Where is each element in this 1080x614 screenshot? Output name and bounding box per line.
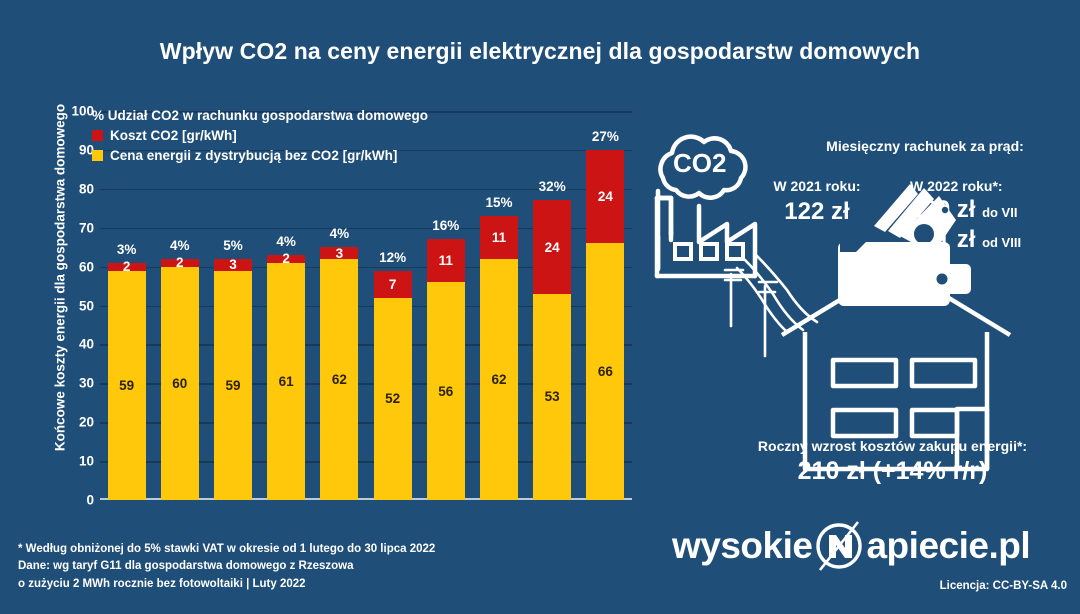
- bar-segment-co2-cost[interactable]: 7: [374, 271, 412, 298]
- bar-value-energy-price: 60: [172, 376, 187, 391]
- y-axis-ticks: 0102030405060708090100: [52, 111, 94, 500]
- bar-segment-energy-price[interactable]: 62: [480, 259, 518, 500]
- bar-value-energy-price: 59: [119, 378, 134, 393]
- bar-segment-co2-cost[interactable]: 2: [161, 259, 199, 267]
- bar-segment-co2-cost[interactable]: 3: [320, 247, 358, 259]
- logo-text-before: wysokie: [672, 525, 812, 567]
- bar-segment-energy-price[interactable]: 60: [161, 267, 199, 500]
- bar-segment-energy-price[interactable]: 59: [214, 271, 252, 501]
- bar-value-energy-price: 62: [491, 372, 506, 387]
- footnote-line-2: Dane: wg taryf G11 dla gospodarstwa domo…: [18, 558, 458, 575]
- bar-value-energy-price: 61: [279, 374, 294, 389]
- bar-segment-co2-cost[interactable]: 11: [480, 216, 518, 259]
- y-axis-tick-label: 20: [52, 415, 94, 430]
- y-axis-tick-label: 10: [52, 454, 94, 469]
- bar-segment-energy-price[interactable]: 61: [267, 263, 305, 500]
- legend-swatch-yellow: [92, 150, 103, 161]
- bar-value-energy-price: 66: [598, 364, 613, 379]
- bar-percent-label: 12%: [365, 250, 421, 265]
- bar-value-co2-cost: 24: [598, 189, 613, 204]
- bar-value-co2-cost: 2: [123, 259, 131, 274]
- footnote-line-1: * Według obniżonej do 5% stawki VAT w ok…: [18, 541, 458, 558]
- bar-percent-label: 4%: [258, 234, 314, 249]
- year-2022-note-2: od VIII: [982, 235, 1021, 250]
- bar-column[interactable]: 561116%2020: [427, 239, 465, 500]
- y-axis-tick-label: 80: [52, 181, 94, 196]
- bar-value-energy-price: 53: [545, 389, 560, 404]
- bar-value-co2-cost: 3: [229, 257, 237, 272]
- bar-segment-energy-price[interactable]: 62: [320, 259, 358, 500]
- bar-percent-label: 4%: [152, 238, 208, 253]
- y-axis-tick-label: 60: [52, 259, 94, 274]
- bar-segment-energy-price[interactable]: 53: [533, 294, 571, 500]
- bar-column[interactable]: 662427%2022: [586, 150, 624, 500]
- brand-logo[interactable]: wysokie apiecie.pl Licencja: CC-BY-SA 4.…: [672, 518, 1072, 608]
- bar-segment-energy-price[interactable]: 59: [108, 271, 146, 501]
- footnotes: * Według obniżonej do 5% stawki VAT w ok…: [18, 541, 458, 593]
- bar-column[interactable]: 52712%2019: [374, 271, 412, 501]
- bar-segment-co2-cost[interactable]: 24: [533, 200, 571, 293]
- page-title: Wpływ CO2 na ceny energii elektrycznej d…: [0, 38, 1080, 65]
- bar-value-energy-price: 52: [385, 391, 400, 406]
- y-axis-tick-label: 100: [52, 104, 94, 119]
- legend-item-co2-cost: Koszt CO2 [gr/kWh]: [92, 128, 472, 143]
- bar-value-co2-cost: 11: [439, 253, 453, 268]
- bar-value-energy-price: 59: [225, 378, 240, 393]
- bar-percent-label: 5%: [205, 238, 261, 253]
- bar-column[interactable]: 6124%2017: [267, 255, 305, 500]
- logo-wordmark: wysokie apiecie.pl: [672, 518, 1072, 574]
- y-axis-tick-label: 40: [52, 337, 94, 352]
- year-2022-note-1: do VII: [982, 205, 1017, 220]
- logo-text-after: apiecie.pl: [866, 525, 1030, 567]
- bar-percent-label: 3%: [99, 242, 155, 257]
- bar-percent-label: 15%: [471, 195, 527, 210]
- bar-percent-label: 4%: [311, 226, 367, 241]
- logo-license: Licencja: CC-BY-SA 4.0: [940, 580, 1067, 592]
- bar-column[interactable]: 6024%2015: [161, 259, 199, 500]
- legend-header: % Udział CO2 w rachunku gospodarstwa dom…: [92, 108, 472, 123]
- y-axis-tick-label: 50: [52, 298, 94, 313]
- bar-value-co2-cost: 7: [389, 277, 397, 292]
- bar-segment-energy-price[interactable]: 56: [427, 282, 465, 500]
- bar-value-co2-cost: 3: [336, 246, 344, 261]
- bar-column[interactable]: 5923%2014: [108, 263, 146, 500]
- bar-value-co2-cost: 24: [545, 240, 560, 255]
- legend-label-energy-price: Cena energii z dystrybucją bez CO2 [gr/k…: [110, 148, 397, 163]
- bar-column[interactable]: 532432%2022*: [533, 200, 571, 500]
- legend-label-co2-cost: Koszt CO2 [gr/kWh]: [110, 128, 237, 143]
- y-axis-tick-label: 30: [52, 376, 94, 391]
- footnote-line-3: o zużyciu 2 MWh rocznie bez fotowoltaiki…: [18, 576, 458, 593]
- bar-column[interactable]: 5935%2016: [214, 259, 252, 500]
- bar-value-co2-cost: 11: [492, 230, 506, 245]
- y-axis-tick-label: 90: [52, 142, 94, 157]
- lightning-n-icon: [812, 519, 866, 573]
- y-axis-tick-label: 0: [52, 493, 94, 508]
- bar-column[interactable]: 6234%2018: [320, 247, 358, 500]
- bar-percent-label: 16%: [418, 218, 474, 233]
- legend-item-energy-price: Cena energii z dystrybucją bez CO2 [gr/k…: [92, 148, 472, 163]
- bar-value-energy-price: 62: [332, 372, 347, 387]
- bar-segment-co2-cost[interactable]: 2: [108, 263, 146, 271]
- bar-segment-co2-cost[interactable]: 11: [427, 239, 465, 282]
- plot-area: 5923%20146024%20155935%20166124%20176234…: [100, 111, 632, 500]
- chart-legend: % Udział CO2 w rachunku gospodarstwa dom…: [92, 108, 472, 163]
- bar-value-co2-cost: 2: [176, 255, 184, 270]
- legend-swatch-red: [92, 130, 103, 141]
- bar-segment-co2-cost[interactable]: 2: [267, 255, 305, 263]
- bar-segment-co2-cost[interactable]: 24: [586, 150, 624, 243]
- wallet-banknotes-illustration: [838, 182, 978, 317]
- bar-percent-label: 32%: [524, 179, 580, 194]
- bar-segment-energy-price[interactable]: 66: [586, 243, 624, 500]
- monthly-bill-heading: Miesięczny rachunek za prąd:: [770, 138, 1080, 154]
- bar-segment-co2-cost[interactable]: 3: [214, 259, 252, 271]
- chart-container: Końcowe koszty energii dla gospodarstwa …: [22, 105, 632, 530]
- bar-column[interactable]: 621115%2021: [480, 216, 518, 500]
- co2-cloud-label: CO2: [673, 148, 726, 178]
- bar-value-energy-price: 56: [438, 384, 453, 399]
- bar-value-co2-cost: 2: [282, 251, 290, 266]
- bar-segment-energy-price[interactable]: 52: [374, 298, 412, 500]
- y-axis-tick-label: 70: [52, 220, 94, 235]
- bar-percent-label: 27%: [577, 129, 633, 144]
